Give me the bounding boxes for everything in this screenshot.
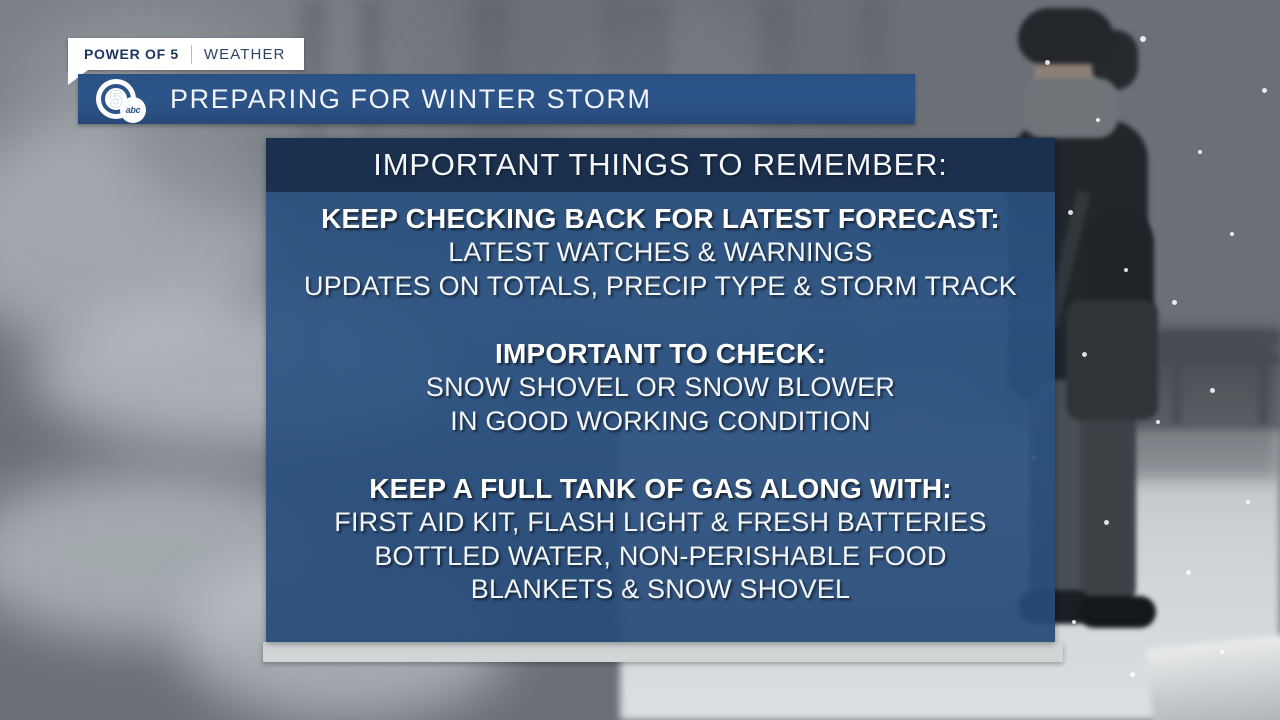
kicker-bar: POWER OF 5 WEATHER bbox=[68, 38, 304, 70]
background-bench bbox=[1258, 364, 1268, 424]
headline-title: PREPARING FOR WINTER STORM bbox=[170, 84, 652, 115]
section-line: UPDATES ON TOTALS, PRECIP TYPE & STORM T… bbox=[276, 270, 1045, 303]
headline-bar: 5 abc PREPARING FOR WINTER STORM bbox=[78, 74, 915, 124]
kicker-tab: POWER OF 5 WEATHER bbox=[68, 38, 304, 70]
broadcast-graphic-screen: POWER OF 5 WEATHER 5 abc PREPARING FOR W… bbox=[0, 0, 1280, 720]
kicker-divider bbox=[191, 45, 192, 64]
logo-abc-badge-icon: abc bbox=[120, 97, 146, 123]
info-panel: IMPORTANT THINGS TO REMEMBER: KEEP CHECK… bbox=[266, 138, 1055, 642]
panel-section: KEEP A FULL TANK OF GAS ALONG WITH: FIRS… bbox=[266, 472, 1055, 607]
panel-section: KEEP CHECKING BACK FOR LATEST FORECAST: … bbox=[266, 202, 1055, 303]
station-logo-5abc-icon: 5 abc bbox=[96, 77, 154, 121]
panel-footer-strip bbox=[263, 642, 1063, 662]
section-heading: IMPORTANT TO CHECK: bbox=[276, 337, 1045, 371]
section-line: IN GOOD WORKING CONDITION bbox=[276, 405, 1045, 438]
section-heading: KEEP A FULL TANK OF GAS ALONG WITH: bbox=[276, 472, 1045, 506]
section-heading: KEEP CHECKING BACK FOR LATEST FORECAST: bbox=[276, 202, 1045, 236]
kicker-section-label: WEATHER bbox=[204, 46, 286, 63]
section-line: BOTTLED WATER, NON-PERISHABLE FOOD bbox=[276, 540, 1045, 573]
section-line: SNOW SHOVEL OR SNOW BLOWER bbox=[276, 371, 1045, 404]
logo-network-label: abc bbox=[126, 105, 141, 115]
panel-section: IMPORTANT TO CHECK: SNOW SHOVEL OR SNOW … bbox=[266, 337, 1055, 438]
panel-body: KEEP CHECKING BACK FOR LATEST FORECAST: … bbox=[266, 192, 1055, 607]
section-line: FIRST AID KIT, FLASH LIGHT & FRESH BATTE… bbox=[276, 506, 1045, 539]
panel-header-title: IMPORTANT THINGS TO REMEMBER: bbox=[373, 147, 947, 183]
section-line: BLANKETS & SNOW SHOVEL bbox=[276, 573, 1045, 606]
logo-number: 5 bbox=[110, 88, 123, 111]
kicker-brand-label: POWER OF 5 bbox=[84, 46, 179, 62]
panel-header: IMPORTANT THINGS TO REMEMBER: bbox=[266, 138, 1055, 192]
section-line: LATEST WATCHES & WARNINGS bbox=[276, 236, 1045, 269]
